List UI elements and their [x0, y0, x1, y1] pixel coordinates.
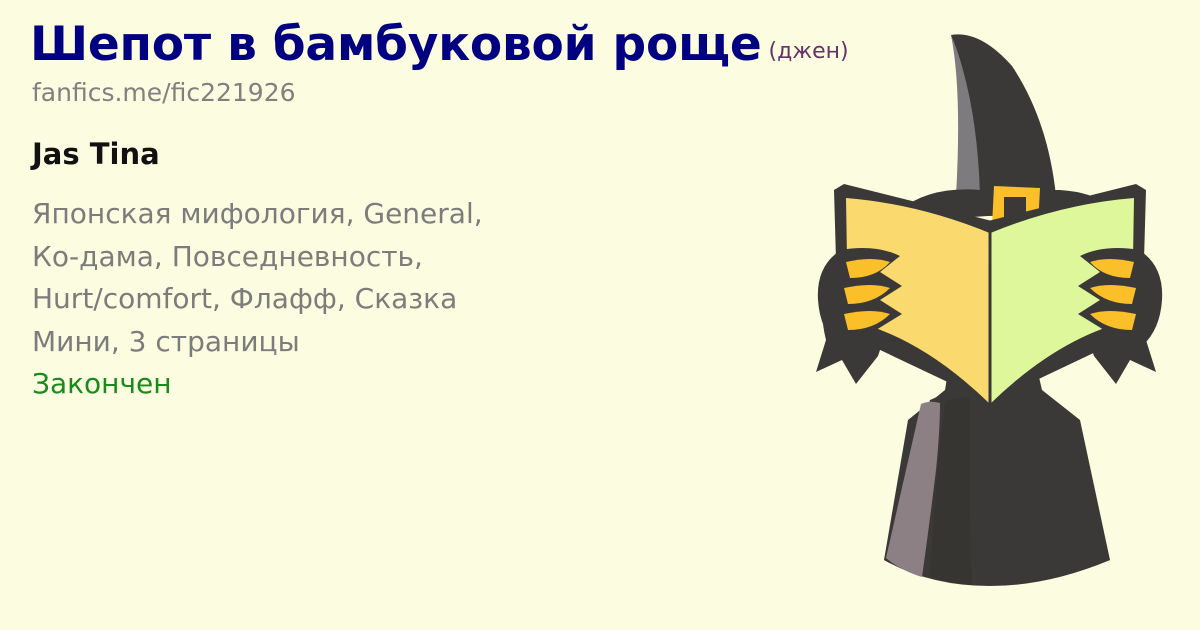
right-hand-base — [1108, 252, 1162, 346]
open-book-group — [834, 184, 1146, 404]
hat-brim — [900, 189, 1110, 232]
left-claw-1 — [846, 259, 890, 278]
wizard-reading-book-illustration — [780, 0, 1200, 630]
right-sleeve — [1080, 237, 1156, 384]
left-claw-3 — [844, 311, 890, 330]
robe-group — [884, 330, 1110, 586]
robe-body — [884, 330, 1110, 585]
fic-preview-card: Шепот в бамбуковой роще(джен) fanfics.me… — [0, 0, 1200, 630]
right-claw-2 — [1090, 285, 1136, 304]
robe-highlight — [886, 402, 940, 577]
right-hand — [1078, 248, 1162, 346]
wizard-hat-group — [900, 34, 1110, 232]
fic-author[interactable]: Jas Tina — [32, 139, 820, 171]
fic-title[interactable]: Шепот в бамбуковой роще — [30, 17, 762, 72]
hat-buckle — [992, 186, 1040, 228]
robe-skirt — [884, 386, 1110, 586]
page-title: Шепот в бамбуковой роще(джен) — [30, 20, 820, 71]
left-hand — [818, 248, 902, 346]
book-cover-right — [984, 184, 1146, 404]
fic-title-suffix: (джен) — [769, 39, 849, 64]
hat-cone — [951, 34, 1056, 196]
right-fingers — [1078, 248, 1142, 332]
left-sleeve — [816, 237, 892, 384]
book-cover-left — [834, 184, 996, 404]
fic-text-column: Шепот в бамбуковой роще(джен) fanfics.me… — [30, 20, 820, 406]
fic-meta-line: Hurt/comfort, Флафф, Сказка — [32, 278, 692, 321]
left-claw-2 — [844, 285, 890, 304]
hat-shading — [951, 35, 980, 196]
robe-inner-shadow — [930, 398, 972, 586]
right-claw-3 — [1090, 311, 1136, 330]
fic-meta: Японская мифология, General, Ко-дама, По… — [32, 193, 692, 363]
status-badge: Закончен — [32, 363, 820, 406]
fic-meta-line: Японская мифология, General, — [32, 193, 692, 236]
book-page-right — [988, 198, 1134, 404]
left-hand-base — [818, 252, 872, 346]
right-claw-1 — [1090, 259, 1134, 278]
fic-meta-line: Ко-дама, Повседневность, — [32, 236, 692, 279]
fic-url[interactable]: fanfics.me/fic221926 — [32, 79, 820, 107]
wizard-icon — [780, 0, 1200, 630]
fic-meta-line: Мини, 3 страницы — [32, 321, 692, 364]
book-page-left — [846, 198, 992, 404]
sleeves-group — [816, 237, 1156, 384]
left-fingers — [838, 248, 902, 332]
